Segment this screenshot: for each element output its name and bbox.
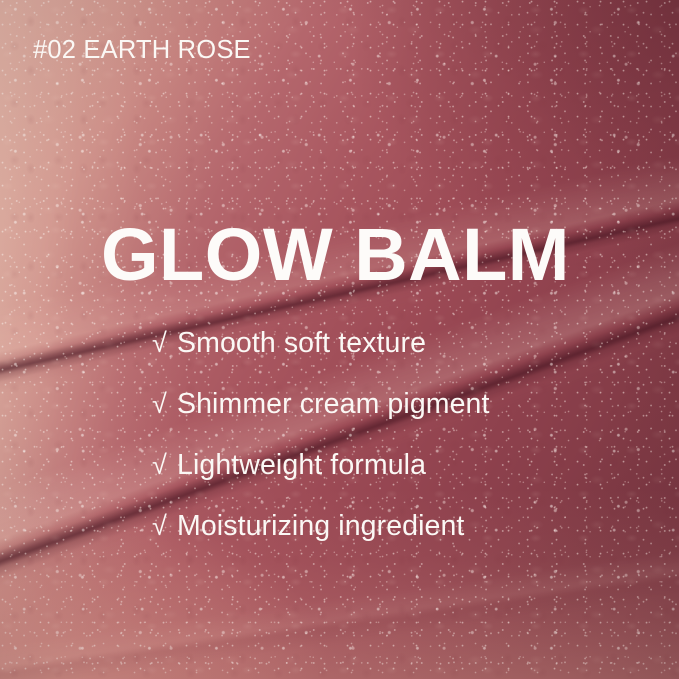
feature-label: Smooth soft texture: [177, 327, 426, 360]
checkmark-icon: √: [152, 389, 177, 420]
product-banner: #02 EARTH ROSE GLOW BALM √ Smooth soft t…: [0, 0, 679, 679]
feature-list-item: √ Smooth soft texture: [152, 327, 490, 388]
feature-list: √ Smooth soft texture √ Shimmer cream pi…: [152, 327, 490, 571]
shade-name-label: #02 EARTH ROSE: [33, 36, 251, 65]
feature-label: Moisturizing ingredient: [177, 510, 464, 543]
checkmark-icon: √: [152, 328, 177, 359]
feature-list-item: √ Lightweight formula: [152, 449, 490, 510]
product-title: GLOW BALM: [101, 218, 570, 292]
feature-list-item: √ Shimmer cream pigment: [152, 388, 490, 449]
feature-label: Lightweight formula: [177, 449, 426, 482]
checkmark-icon: √: [152, 511, 177, 542]
checkmark-icon: √: [152, 450, 177, 481]
feature-label: Shimmer cream pigment: [177, 388, 490, 421]
banner-content: #02 EARTH ROSE GLOW BALM √ Smooth soft t…: [0, 0, 679, 679]
feature-list-item: √ Moisturizing ingredient: [152, 510, 490, 571]
